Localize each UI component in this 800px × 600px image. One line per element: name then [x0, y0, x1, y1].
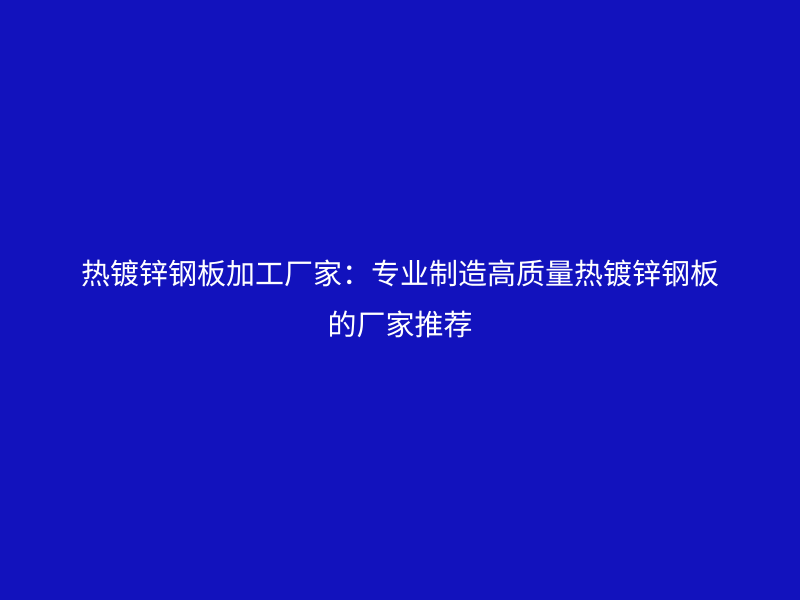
headline-line-1: 热镀锌钢板加工厂家：专业制造高质量热镀锌钢板 — [24, 249, 776, 300]
banner-canvas: 热镀锌钢板加工厂家：专业制造高质量热镀锌钢板 的厂家推荐 — [0, 0, 800, 600]
headline-line-2: 的厂家推荐 — [24, 300, 776, 351]
headline-block: 热镀锌钢板加工厂家：专业制造高质量热镀锌钢板 的厂家推荐 — [0, 249, 800, 351]
